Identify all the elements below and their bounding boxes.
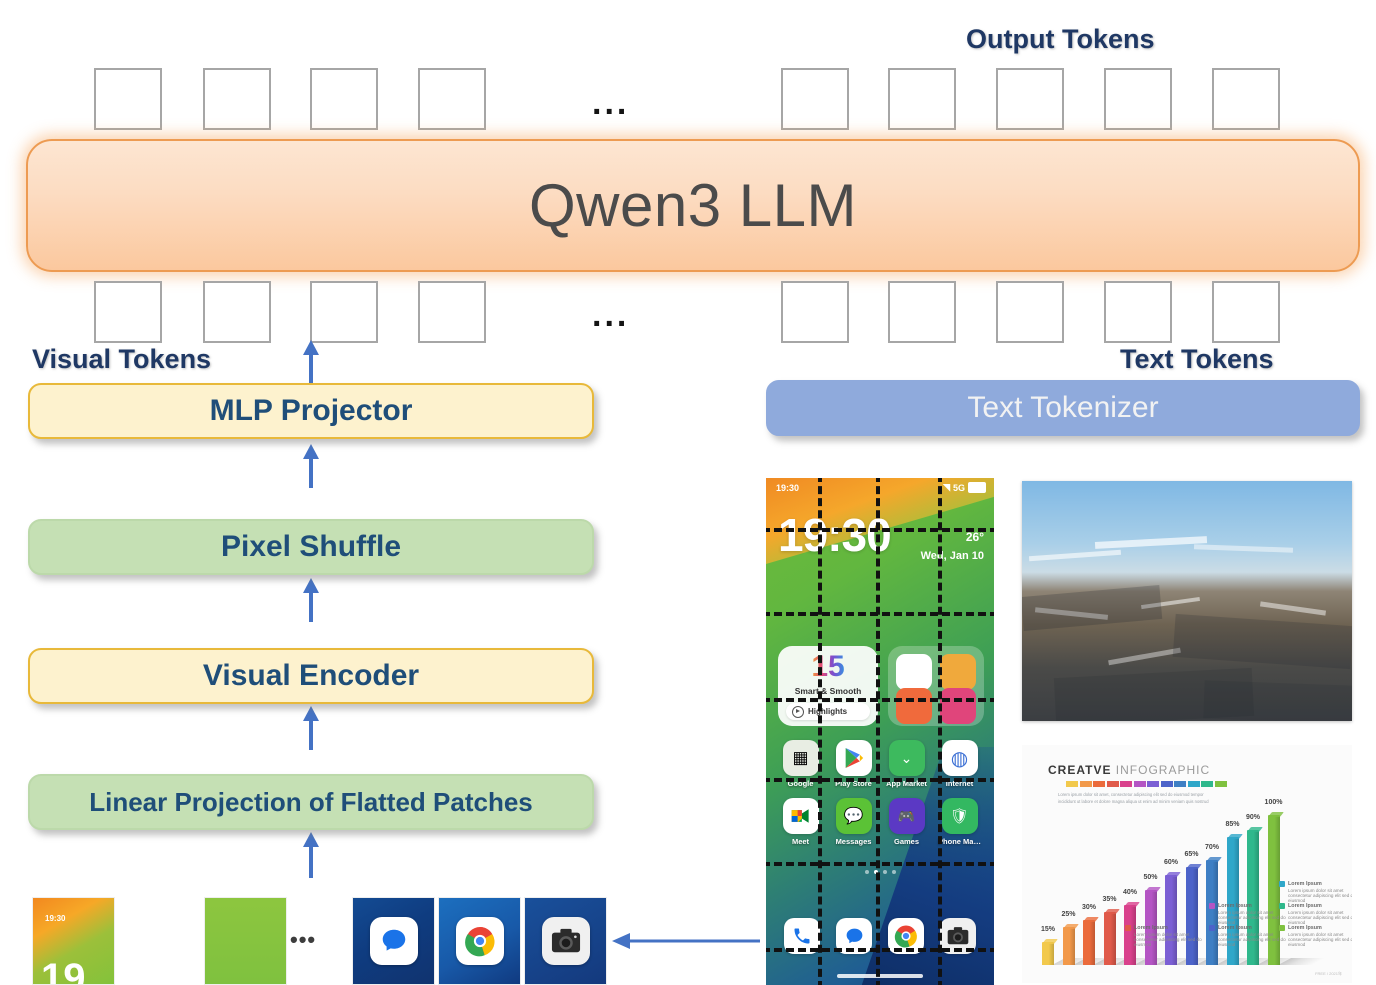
widget-subtitle: Smart & Smooth [778,686,878,696]
chrome-icon[interactable] [888,918,924,954]
mini-app-icon-wallet[interactable] [896,688,932,724]
arrow-encoder-to-shuffle [300,578,322,622]
stage-visual-encoder: Visual Encoder [28,648,594,704]
mini-app-icon-docs[interactable] [896,654,932,690]
chart-bar-value: 60% [1164,859,1178,866]
text-token-box [996,281,1064,343]
chart-swatch [1120,781,1132,787]
legend-label: Lorem Ipsum [1288,903,1352,909]
chart-bar-value: 50% [1143,874,1157,881]
app-google[interactable]: ▦ Google [774,740,827,788]
chart-swatch [1174,781,1186,787]
stage-label: Pixel Shuffle [221,530,401,564]
output-token-box [1212,68,1280,130]
page-dot-active[interactable] [874,870,878,874]
phone-dock [766,918,994,954]
visual-token-box [418,281,486,343]
chart-bar-column [1104,912,1116,965]
stage-label: Visual Encoder [203,659,419,693]
chart-bar-top [1227,834,1243,839]
text-token-box [781,281,849,343]
chart-bar-column [1042,942,1054,965]
legend-desc: Lorem ipsum dolor sit amet consectetur a… [1218,932,1286,947]
visual-tokens-label: Visual Tokens [32,344,211,375]
google-folder-icon: ▦ [783,740,819,776]
llm-title: Qwen3 LLM [529,171,857,240]
tokenizer-label: Text Tokenizer [967,391,1158,425]
play-icon [792,706,804,718]
chart-swatch [1066,781,1078,787]
chart-bar-value: 85% [1225,821,1239,828]
chart-bar-top [1042,939,1058,944]
chart-swatch [1215,781,1227,787]
camera-icon [542,917,590,965]
chart-bar: 35% [1104,912,1116,965]
chart-swatch [1188,781,1200,787]
chart-bar-top [1206,857,1222,862]
chart-bar: 65% [1186,867,1198,965]
wifi-icon: ◥ [943,482,950,493]
widget-highlights-button[interactable]: Highlights [786,703,870,720]
app-label: Play Store [835,779,872,788]
infographic-bar-chart: CREATVE INFOGRAPHIC Lorem ipsum dolor si… [1022,745,1352,983]
chart-title: CREATVE INFOGRAPHIC [1048,763,1210,777]
widget-smart-smooth[interactable]: 15 Smart & Smooth Highlights [778,646,878,726]
chart-bar: 15% [1042,942,1054,965]
chart-footer: FREE / 2021年 [1315,971,1342,977]
lockscreen-clock: 19:30 [778,512,891,558]
stage-mlp-projector: MLP Projector [28,383,594,439]
chart-bar-top [1186,864,1202,869]
page-dot[interactable] [892,870,896,874]
phone-manager-icon: 🛡 [942,798,978,834]
phone-screenshot-image: 19:30 ◥ 5G 19:30 26° Wed, Jan 10 15 Smar… [766,478,994,985]
chart-swatch [1080,781,1092,787]
text-token-box [888,281,956,343]
arrow-linear-to-encoder [300,706,322,750]
chart-bar-top [1104,909,1120,914]
legend-desc: Lorem ipsum dolor sit amet consectetur a… [1218,910,1286,925]
app-meet[interactable]: Meet [774,798,827,846]
output-token-box [888,68,956,130]
app-label: Games [894,837,919,846]
mini-app-icon-download[interactable] [940,654,976,690]
chart-bar: 70% [1206,860,1218,965]
output-token-box [94,68,162,130]
output-tokens-ellipsis: ... [592,86,629,120]
chart-swatch [1093,781,1105,787]
legend-item: Lorem Ipsum Lorem ipsum dolor sit amet c… [1288,903,1352,926]
stage-label: Linear Projection of Flatted Patches [89,787,533,818]
chart-bar-value: 70% [1205,844,1219,851]
legend-label: Lorem Ipsum [1288,925,1352,931]
input-tokens-ellipsis: ... [592,298,629,332]
app-games[interactable]: 🎮 Games [880,798,933,846]
visual-token-box [310,281,378,343]
chart-swatch [1161,781,1173,787]
legend-desc: Lorem ipsum dolor sit amet consectetur a… [1134,932,1202,947]
chart-bar-top [1165,872,1181,877]
arrow-shuffle-to-projector [300,444,322,488]
lockscreen-date: Wed, Jan 10 [921,550,984,562]
chart-bar-column [1186,867,1198,965]
app-label: Internet [946,779,974,788]
app-grid-row-2: Meet 💬 Messages 🎮 Games 🛡 Phone Ma… [766,798,994,846]
legend-desc: Lorem ipsum dolor sit amet consectetur a… [1288,888,1352,903]
output-token-box [203,68,271,130]
internet-browser-icon: ◍ [942,740,978,776]
app-market-icon: ⌄ [889,740,925,776]
messages-icon [370,917,418,965]
messages-icon[interactable] [836,918,872,954]
app-internet[interactable]: ◍ Internet [933,740,986,788]
chart-swatch [1107,781,1119,787]
text-tokenizer-block: Text Tokenizer [766,380,1360,436]
chart-bar: 60% [1165,875,1177,965]
chart-bar-top [1268,812,1284,817]
text-token-box [1104,281,1172,343]
widget-big-number: 15 [811,652,844,682]
output-token-box [1104,68,1172,130]
chart-bar-column [1083,920,1095,965]
app-label: Messages [836,837,872,846]
stage-label: MLP Projector [210,394,413,428]
chart-bar: 25% [1063,927,1075,965]
phone-icon[interactable] [784,918,820,954]
app-label: Phone Ma… [938,837,981,846]
output-token-box [996,68,1064,130]
output-token-box [418,68,486,130]
legend-item: Lorem Ipsum Lorem ipsum dolor sit amet c… [1288,881,1352,904]
chart-bar-value: 15% [1041,926,1055,933]
chart-bar-value: 90% [1246,814,1260,821]
patch-strip-ellipsis: ••• [290,927,316,953]
home-indicator-bar [837,974,923,978]
chart-bar-column [1206,860,1218,965]
chart-bar-top [1145,887,1161,892]
mini-app-icon-star[interactable] [940,688,976,724]
patch-time-overlay: 19:30 [45,914,65,923]
text-tokens-label: Text Tokens [1120,344,1274,375]
chart-bar-value: 35% [1102,896,1116,903]
output-token-box [310,68,378,130]
chart-bar-column [1165,875,1177,965]
chart-swatch [1147,781,1159,787]
visual-token-box [203,281,271,343]
status-bar-icons: ◥ 5G [943,482,986,493]
architecture-diagram: Output Tokens ... Qwen3 LLM ... Visual T… [0,0,1376,985]
stage-pixel-shuffle: Pixel Shuffle [28,519,594,575]
legend-item: Lorem Ipsum Lorem ipsum dolor sit amet c… [1288,925,1352,948]
messages-icon: 💬 [836,798,872,834]
image-patch-app-messages [352,897,435,985]
text-token-box [1212,281,1280,343]
app-grid-row-1: ▦ Google Play Store ⌄ App Market [766,740,994,788]
games-controller-icon: 🎮 [889,798,925,834]
image-patch-wallpaper [204,897,287,985]
stage-linear-projection: Linear Projection of Flatted Patches [28,774,594,830]
chart-color-swatches [1066,781,1227,787]
chart-bar-column [1063,927,1075,965]
app-label: App Market [886,779,927,788]
qwen3-llm-block: Qwen3 LLM [26,139,1360,272]
home-page-indicator-dots [766,870,994,874]
legend-label: Lorem Ipsum [1134,925,1208,931]
arrow-image-to-patches [608,930,760,952]
app-play-store[interactable]: Play Store [827,740,880,788]
arrow-patches-to-linear [300,832,322,878]
image-patch-app-camera [524,897,607,985]
legend-item: Lorem Ipsum Lorem ipsum dolor sit amet c… [1134,925,1208,948]
chart-bar-value: 65% [1184,851,1198,858]
chart-swatch [1201,781,1213,787]
image-patch-wallpaper: 19:30 19 [32,897,115,985]
chart-bar-value: 100% [1265,799,1283,806]
legend-desc: Lorem ipsum dolor sit amet consectetur a… [1288,910,1352,925]
google-meet-icon [783,798,819,834]
app-label: Google [788,779,814,788]
legend-label: Lorem Ipsum [1288,881,1352,887]
chart-title-bold: CREATVE [1048,763,1111,777]
camera-icon[interactable] [940,918,976,954]
image-patch-app-chrome [438,897,521,985]
play-store-icon [836,740,872,776]
page-dot[interactable] [883,870,887,874]
chart-bar-top [1124,902,1140,907]
page-dot[interactable] [865,870,869,874]
battery-icon [968,482,986,493]
widget-app-folder[interactable] [888,646,984,726]
app-messages[interactable]: 💬 Messages [827,798,880,846]
signal-label: 5G [953,483,965,493]
chrome-icon [456,917,504,965]
mountain-landscape-image [1022,481,1352,721]
app-label: Meet [792,837,809,846]
visual-token-box [94,281,162,343]
chart-bar-top [1083,917,1099,922]
chart-bar-top [1063,924,1079,929]
chart-title-light: INFOGRAPHIC [1116,763,1210,777]
status-bar-time: 19:30 [776,483,799,493]
chart-bar: 30% [1083,920,1095,965]
chart-subtitle: Lorem ipsum dolor sit amet, consectetur … [1058,792,1218,805]
app-app-market[interactable]: ⌄ App Market [880,740,933,788]
chart-bar-value: 30% [1082,904,1096,911]
chart-swatch [1134,781,1146,787]
chart-bar-top [1247,827,1263,832]
widget-pill-label: Highlights [808,707,847,716]
chart-bar-value: 40% [1123,889,1137,896]
output-token-box [781,68,849,130]
legend-desc: Lorem ipsum dolor sit amet consectetur a… [1288,932,1352,947]
chart-bar-value: 25% [1061,911,1075,918]
weather-temperature: 26° [966,530,984,544]
arrow-projector-to-tokens [300,340,322,386]
app-phone-manager[interactable]: 🛡 Phone Ma… [933,798,986,846]
output-tokens-label: Output Tokens [966,24,1155,55]
